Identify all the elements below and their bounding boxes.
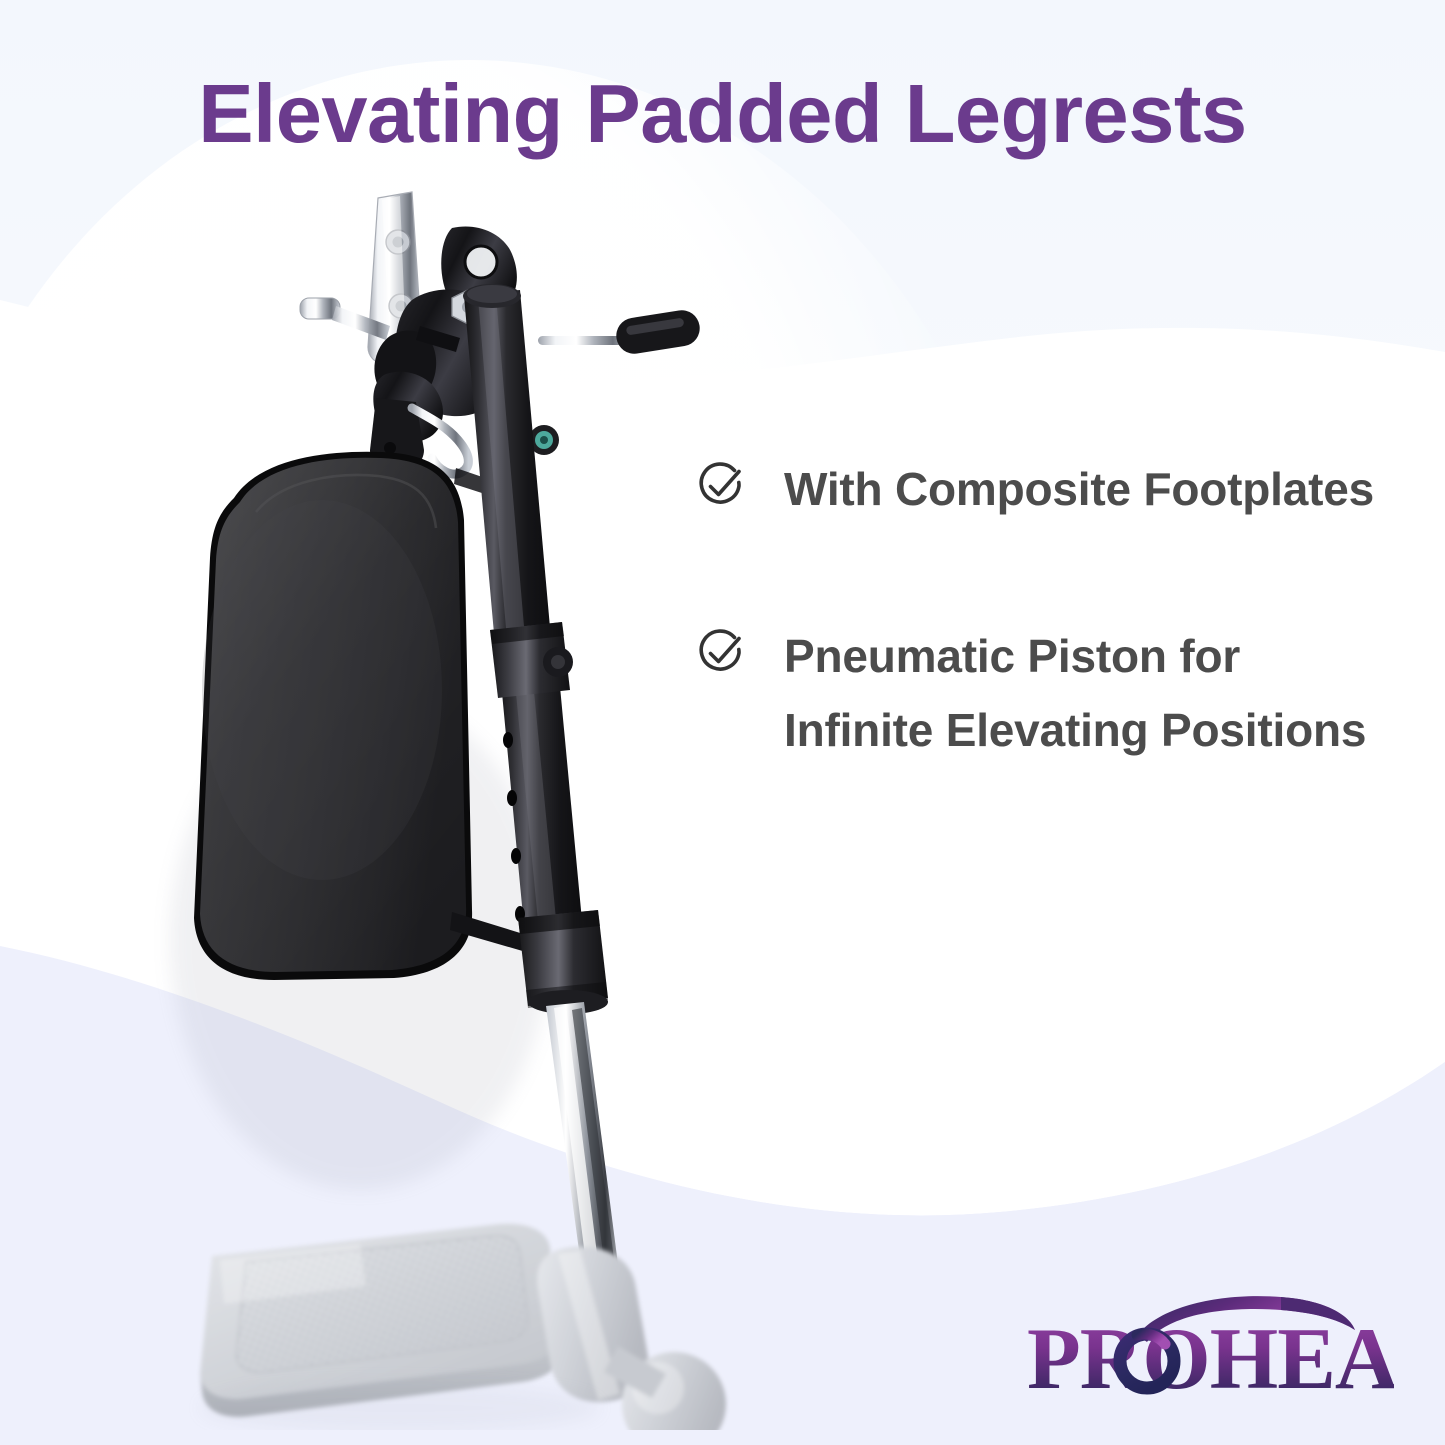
- release-handle: [538, 308, 702, 357]
- page-title: Elevating Padded Legrests: [0, 72, 1445, 155]
- logo-wordmark: PROHEAL: [1027, 1311, 1394, 1408]
- feature-list: With Composite Footplates Pneumatic Pist…: [694, 452, 1394, 860]
- calf-pad: [194, 452, 472, 980]
- product-image: [60, 150, 780, 1430]
- circle-check-icon: [694, 627, 746, 679]
- feature-item-pneumatic-piston: Pneumatic Piston for Infinite Elevating …: [694, 619, 1394, 768]
- feature-label: With Composite Footplates: [784, 452, 1394, 527]
- circle-check-icon: [694, 460, 746, 512]
- tube-clamp-collar-upper: [490, 622, 573, 698]
- product-marketing-image: Elevating Padded Legrests: [0, 0, 1445, 1445]
- feature-item-composite-footplates: With Composite Footplates: [694, 452, 1394, 527]
- proheal-logo[interactable]: PROHEAL: [1019, 1288, 1394, 1408]
- feature-label: Pneumatic Piston for Infinite Elevating …: [784, 619, 1394, 768]
